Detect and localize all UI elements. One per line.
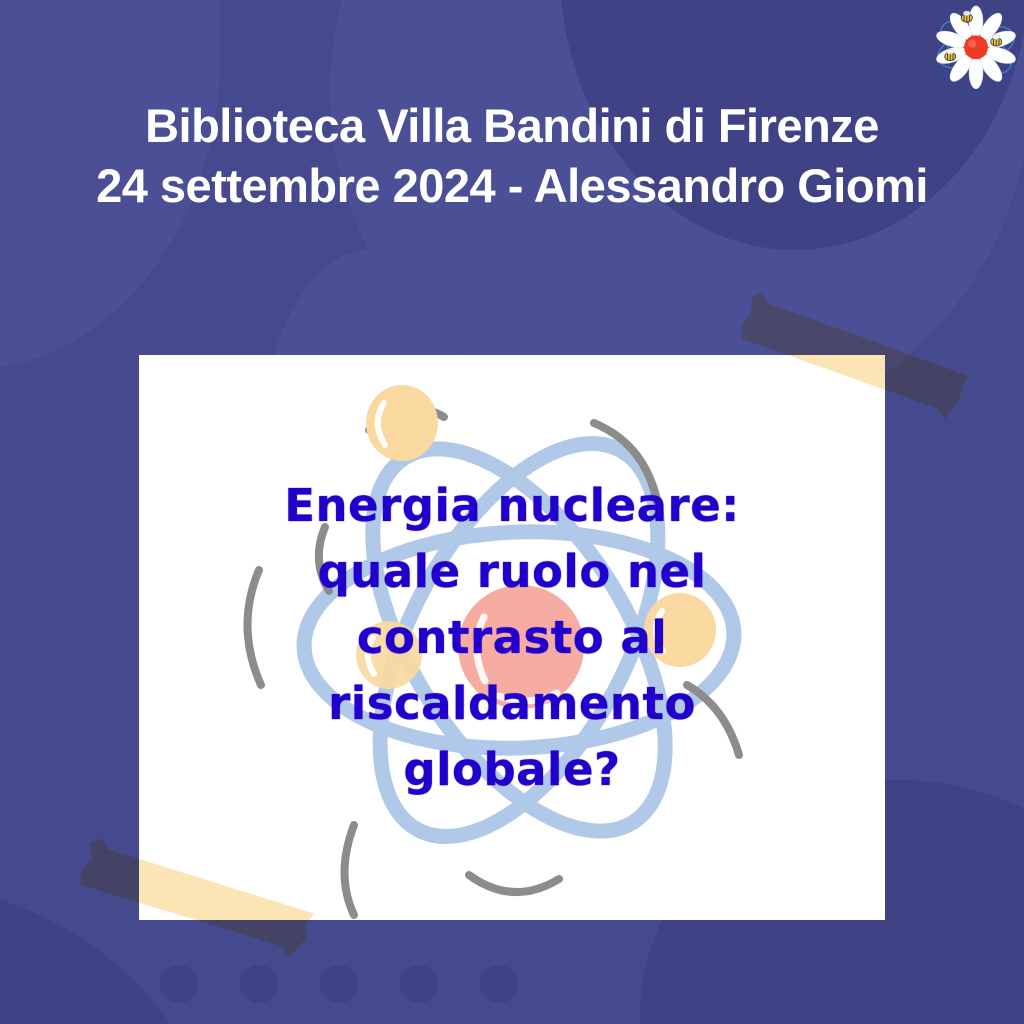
card-headline: Energia nucleare: quale ruolo nel contra…: [139, 355, 885, 920]
card-headline-line: quale ruolo nel: [318, 539, 707, 605]
card-headline-line: contrasto al: [357, 605, 667, 671]
poster-header: Biblioteca Villa Bandini di Firenze 24 s…: [0, 96, 1024, 216]
content-card: Energia nucleare: quale ruolo nel contra…: [139, 355, 885, 920]
card-headline-line: Energia nucleare:: [284, 473, 739, 539]
background-dot: [160, 965, 198, 1003]
poster-canvas: COMITATO NUCLEARE E RAGIONE Biblioteca V…: [0, 0, 1024, 1024]
card-headline-line: globale?: [403, 737, 620, 803]
background-dot: [240, 965, 278, 1003]
header-line-venue: Biblioteca Villa Bandini di Firenze: [0, 96, 1024, 156]
background-dot: [400, 965, 438, 1003]
daisy-bees-logo: COMITATO NUCLEARE E RAGIONE: [930, 5, 1022, 97]
background-dot: [320, 965, 358, 1003]
background-dot-row: [160, 965, 518, 1003]
card-headline-line: riscaldamento: [328, 671, 696, 737]
header-line-date-speaker: 24 settembre 2024 - Alessandro Giomi: [0, 156, 1024, 216]
background-dot: [480, 965, 518, 1003]
